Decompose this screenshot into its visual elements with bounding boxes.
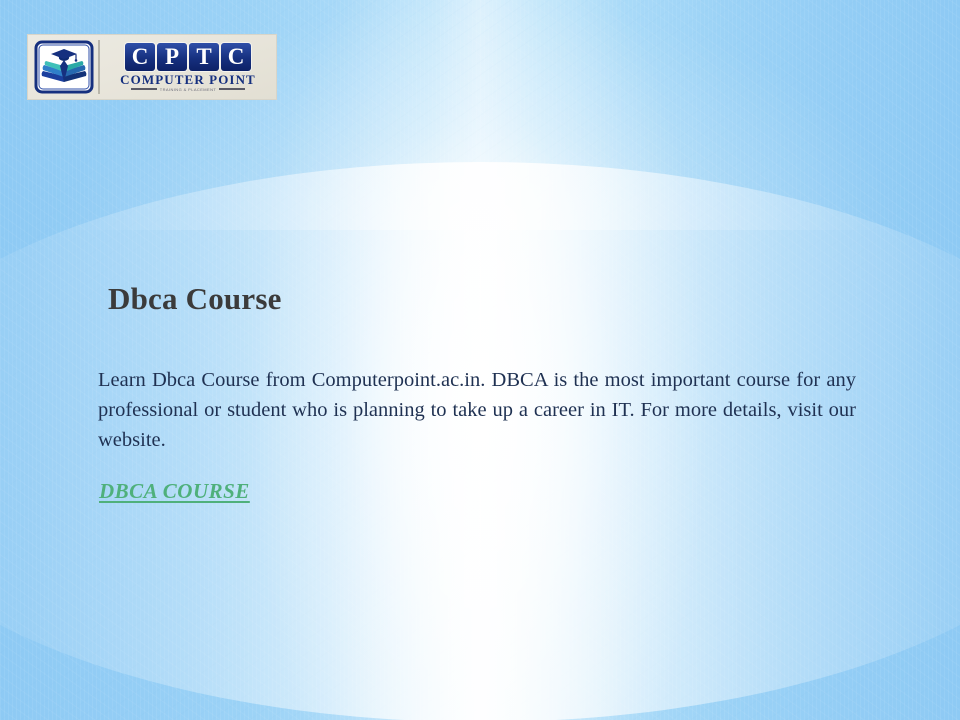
logo-letter-c1: C [125,43,155,71]
slide-canvas: C P T C COMPUTER POINT TRAINING & PLACEM… [0,0,960,720]
background-center-light-shaft [0,0,960,720]
cptc-logo[interactable]: C P T C COMPUTER POINT TRAINING & PLACEM… [27,34,277,100]
graduation-cap-book-icon [33,39,95,95]
logo-divider [98,40,100,94]
tagline-rule-right [219,88,245,90]
logo-subtitle: COMPUTER POINT [120,73,256,87]
logo-letter-p: P [157,43,187,71]
logo-tagline-text: TRAINING & PLACEMENT [160,87,216,92]
tagline-rule-left [131,88,157,90]
logo-wordmark: C P T C COMPUTER POINT TRAINING & PLACEM… [105,43,271,92]
page-title: Dbca Course [108,280,282,318]
logo-letter-t: T [189,43,219,71]
logo-letter-row: C P T C [125,43,251,71]
logo-letter-c2: C [221,43,251,71]
dbca-course-link[interactable]: DBCA COURSE [99,478,250,504]
body-paragraph: Learn Dbca Course from Computerpoint.ac.… [98,365,856,455]
logo-tagline-row: TRAINING & PLACEMENT [105,87,271,92]
